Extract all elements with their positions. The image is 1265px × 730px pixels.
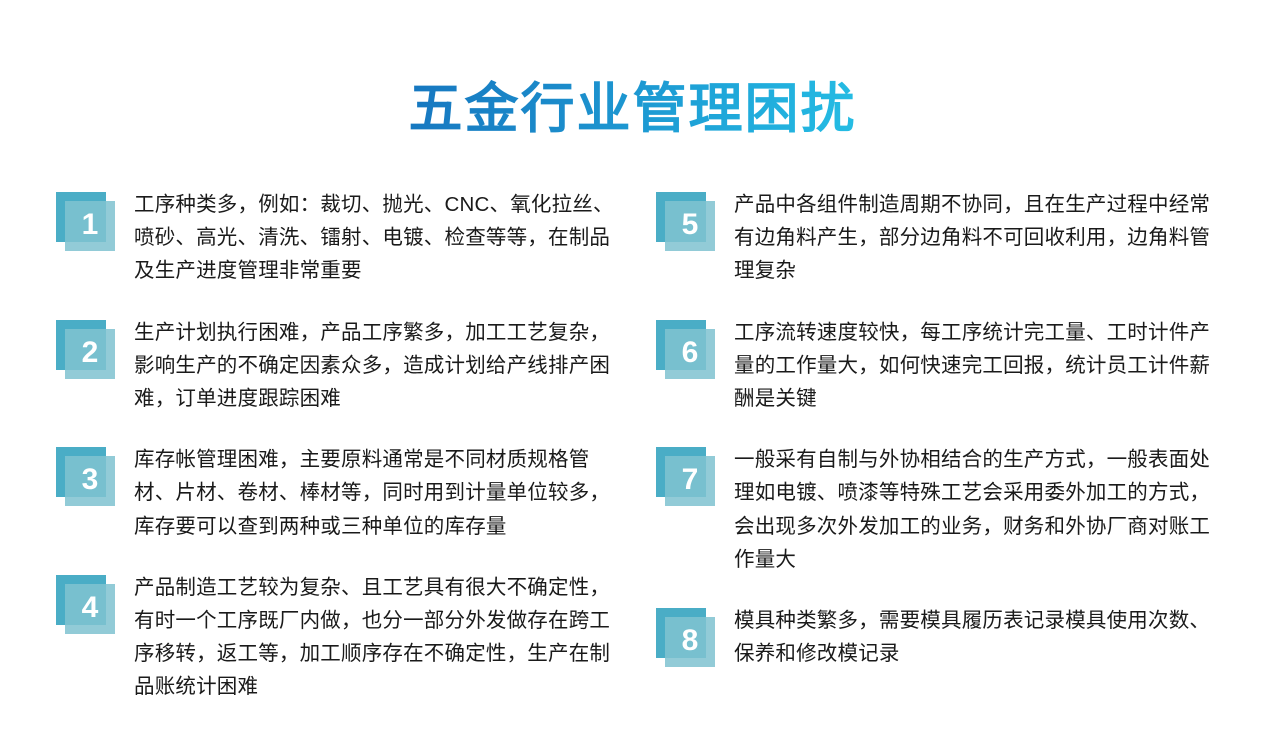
pain-point-list-right: 5 产品中各组件制造周期不协同，且在生产过程中经常有边角料产生，部分边角料不可回… <box>656 186 1216 696</box>
item-number-badge: 4 <box>56 575 118 637</box>
badge-front-square: 4 <box>65 584 115 634</box>
item-number-badge: 2 <box>56 320 118 382</box>
list-item: 4 产品制造工艺较为复杂、且工艺具有很大不确定性，有时一个工序既厂内做，也分一部… <box>56 569 616 704</box>
badge-number: 8 <box>682 626 699 656</box>
badge-number: 6 <box>682 338 699 368</box>
item-number-badge: 7 <box>656 447 718 509</box>
list-item: 8 模具种类繁多，需要模具履历表记录模具使用次数、保养和修改模记录 <box>656 602 1216 670</box>
list-item: 2 生产计划执行困难，产品工序繁多，加工工艺复杂，影响生产的不确定因素众多，造成… <box>56 314 616 416</box>
item-description: 产品中各组件制造周期不协同，且在生产过程中经常有边角料产生，部分边角料不可回收利… <box>734 186 1216 288</box>
list-item: 6 工序流转速度较快，每工序统计完工量、工时计件产量的工作量大，如何快速完工回报… <box>656 314 1216 416</box>
badge-front-square: 3 <box>65 456 115 506</box>
badge-number: 1 <box>82 210 99 240</box>
item-description: 生产计划执行困难，产品工序繁多，加工工艺复杂，影响生产的不确定因素众多，造成计划… <box>134 314 616 416</box>
page-title: 五金行业管理困扰 <box>409 78 857 140</box>
badge-front-square: 8 <box>665 617 715 667</box>
list-item: 1 工序种类多，例如：裁切、抛光、CNC、氧化拉丝、喷砂、高光、清洗、镭射、电镀… <box>56 186 616 288</box>
item-number-badge: 5 <box>656 192 718 254</box>
item-number-badge: 3 <box>56 447 118 509</box>
badge-front-square: 7 <box>665 456 715 506</box>
badge-number: 7 <box>682 465 699 495</box>
item-number-badge: 1 <box>56 192 118 254</box>
badge-front-square: 6 <box>665 329 715 379</box>
item-description: 一般采有自制与外协相结合的生产方式，一般表面处理如电镀、喷漆等特殊工艺会采用委外… <box>734 441 1216 576</box>
list-item: 5 产品中各组件制造周期不协同，且在生产过程中经常有边角料产生，部分边角料不可回… <box>656 186 1216 288</box>
item-number-badge: 6 <box>656 320 718 382</box>
item-description: 工序流转速度较快，每工序统计完工量、工时计件产量的工作量大，如何快速完工回报，统… <box>734 314 1216 416</box>
item-description: 产品制造工艺较为复杂、且工艺具有很大不确定性，有时一个工序既厂内做，也分一部分外… <box>134 569 616 704</box>
badge-number: 2 <box>82 338 99 368</box>
badge-front-square: 2 <box>65 329 115 379</box>
list-item: 3 库存帐管理困难，主要原料通常是不同材质规格管材、片材、卷材、棒材等，同时用到… <box>56 441 616 543</box>
slide-title-container: 五金行业管理困扰 <box>0 42 1265 176</box>
badge-number: 4 <box>82 593 99 623</box>
item-description: 工序种类多，例如：裁切、抛光、CNC、氧化拉丝、喷砂、高光、清洗、镭射、电镀、检… <box>134 186 616 288</box>
badge-number: 5 <box>682 210 699 240</box>
item-description: 库存帐管理困难，主要原料通常是不同材质规格管材、片材、卷材、棒材等，同时用到计量… <box>134 441 616 543</box>
list-item: 7 一般采有自制与外协相结合的生产方式，一般表面处理如电镀、喷漆等特殊工艺会采用… <box>656 441 1216 576</box>
badge-front-square: 5 <box>665 201 715 251</box>
pain-point-list-left: 1 工序种类多，例如：裁切、抛光、CNC、氧化拉丝、喷砂、高光、清洗、镭射、电镀… <box>56 186 616 730</box>
item-number-badge: 8 <box>656 608 718 670</box>
badge-number: 3 <box>82 465 99 495</box>
item-description: 模具种类繁多，需要模具履历表记录模具使用次数、保养和修改模记录 <box>734 602 1216 670</box>
badge-front-square: 1 <box>65 201 115 251</box>
